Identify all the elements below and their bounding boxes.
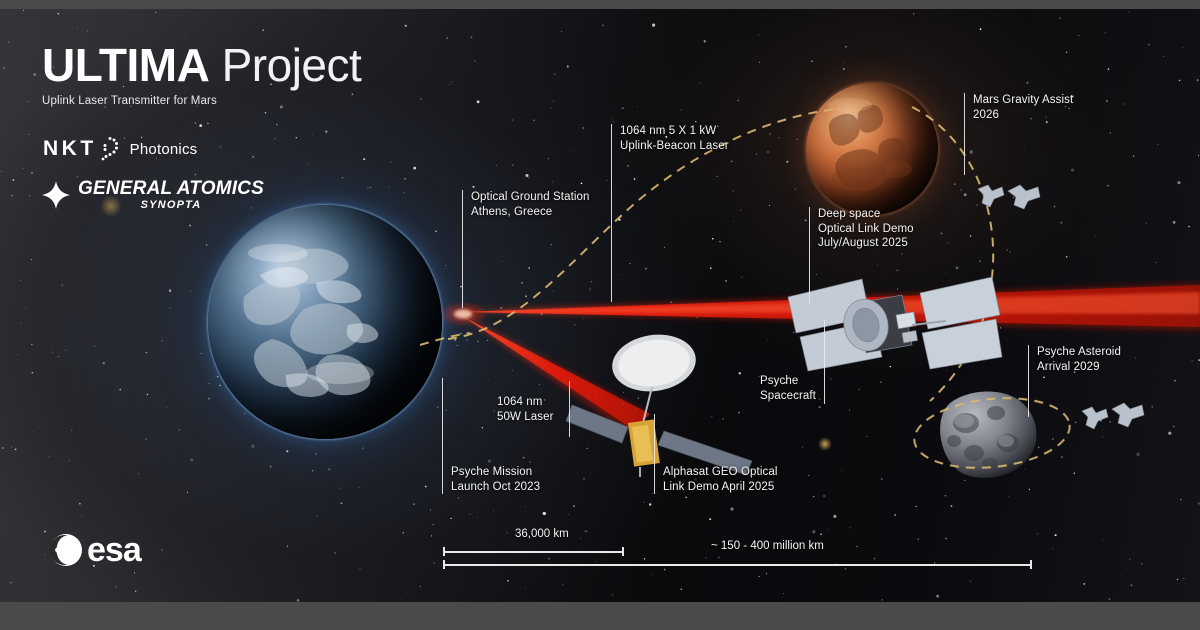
esa-wordmark: esa [87,533,141,567]
scale-geo-label: 36,000 km [515,528,569,540]
nkt-photonics-label: Photonics [130,141,198,158]
title-bold: ULTIMA [42,39,209,91]
infographic-canvas: ULTIMA Project Uplink Laser Transmitter … [0,0,1200,630]
letterbox-bar-bottom [0,602,1200,630]
page-subtitle: Uplink Laser Transmitter for Mars [42,95,361,107]
esa-globe-icon [48,532,84,568]
nkt-wordmark: NKT [43,137,97,161]
page-title: ULTIMA Project [42,40,361,90]
scale-deep-space-cap-left [443,560,445,569]
letterbox-bar-top [0,0,1200,9]
title-block: ULTIMA Project Uplink Laser Transmitter … [42,40,361,107]
nkt-photonics-logo: NKT Photonics [43,136,197,162]
general-atomics-star-icon [41,180,71,210]
nkt-dot-arc-icon [99,136,119,162]
scale-geo-cap-left [443,547,445,556]
scale-geo-cap-right [622,547,624,556]
scale-deep-space-bar [443,564,1031,566]
scale-deep-space-label: ~ 150 - 400 million km [711,540,824,552]
title-light: Project [222,39,362,91]
synopta-label: SYNOPTA [78,200,264,211]
scale-deep-space-cap-right [1030,560,1032,569]
general-atomics-label: GENERAL ATOMICS [78,179,264,198]
scale-geo-bar [443,551,623,553]
esa-logo: esa [48,532,141,568]
general-atomics-synopta-logo: GENERAL ATOMICS SYNOPTA [41,179,264,211]
